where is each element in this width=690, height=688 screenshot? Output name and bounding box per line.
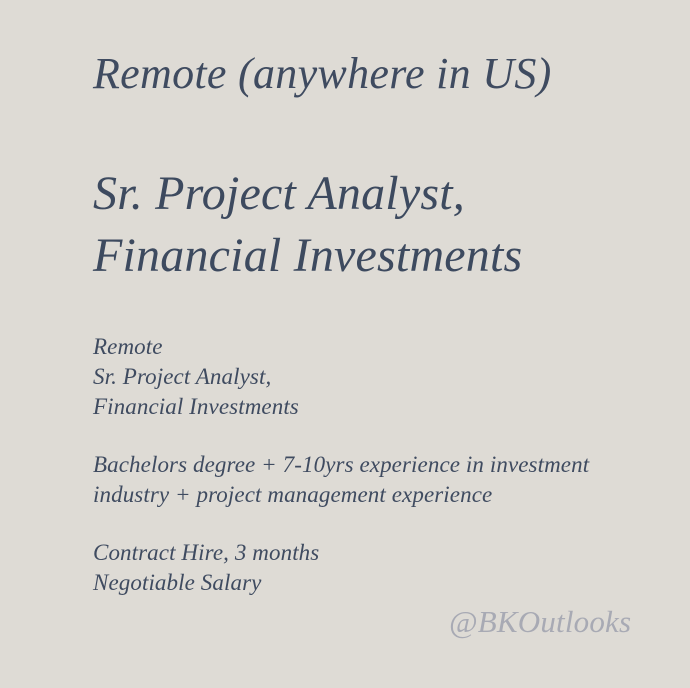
post-content: Remote (anywhere in US) Sr. Project Anal… <box>93 0 653 598</box>
location-eyebrow: Remote (anywhere in US) <box>93 0 653 96</box>
detail-paragraph-requirements: Bachelors degree + 7-10yrs experience in… <box>93 450 638 510</box>
account-watermark: @BKOutlooks <box>449 606 631 637</box>
detail-paragraph-terms: Contract Hire, 3 months Negotiable Salar… <box>93 538 653 598</box>
job-post-card: Remote (anywhere in US) Sr. Project Anal… <box>0 0 690 688</box>
terms-contract-line: Contract Hire, 3 months <box>93 538 653 568</box>
requirements-line-2: industry + project management experience <box>93 480 638 510</box>
job-title-line-2: Financial Investments <box>93 225 653 287</box>
post-details: Remote Sr. Project Analyst, Financial In… <box>93 288 653 598</box>
requirements-line-1: Bachelors degree + 7-10yrs experience in… <box>93 450 638 480</box>
detail-paragraph-role: Remote Sr. Project Analyst, Financial In… <box>93 332 653 422</box>
detail-location: Remote <box>93 332 653 362</box>
job-title: Sr. Project Analyst, Financial Investmen… <box>93 96 653 288</box>
job-title-line-1: Sr. Project Analyst, <box>93 163 653 225</box>
detail-role-line-1: Sr. Project Analyst, <box>93 362 653 392</box>
detail-role-line-2: Financial Investments <box>93 392 653 422</box>
terms-salary-line: Negotiable Salary <box>93 568 653 598</box>
